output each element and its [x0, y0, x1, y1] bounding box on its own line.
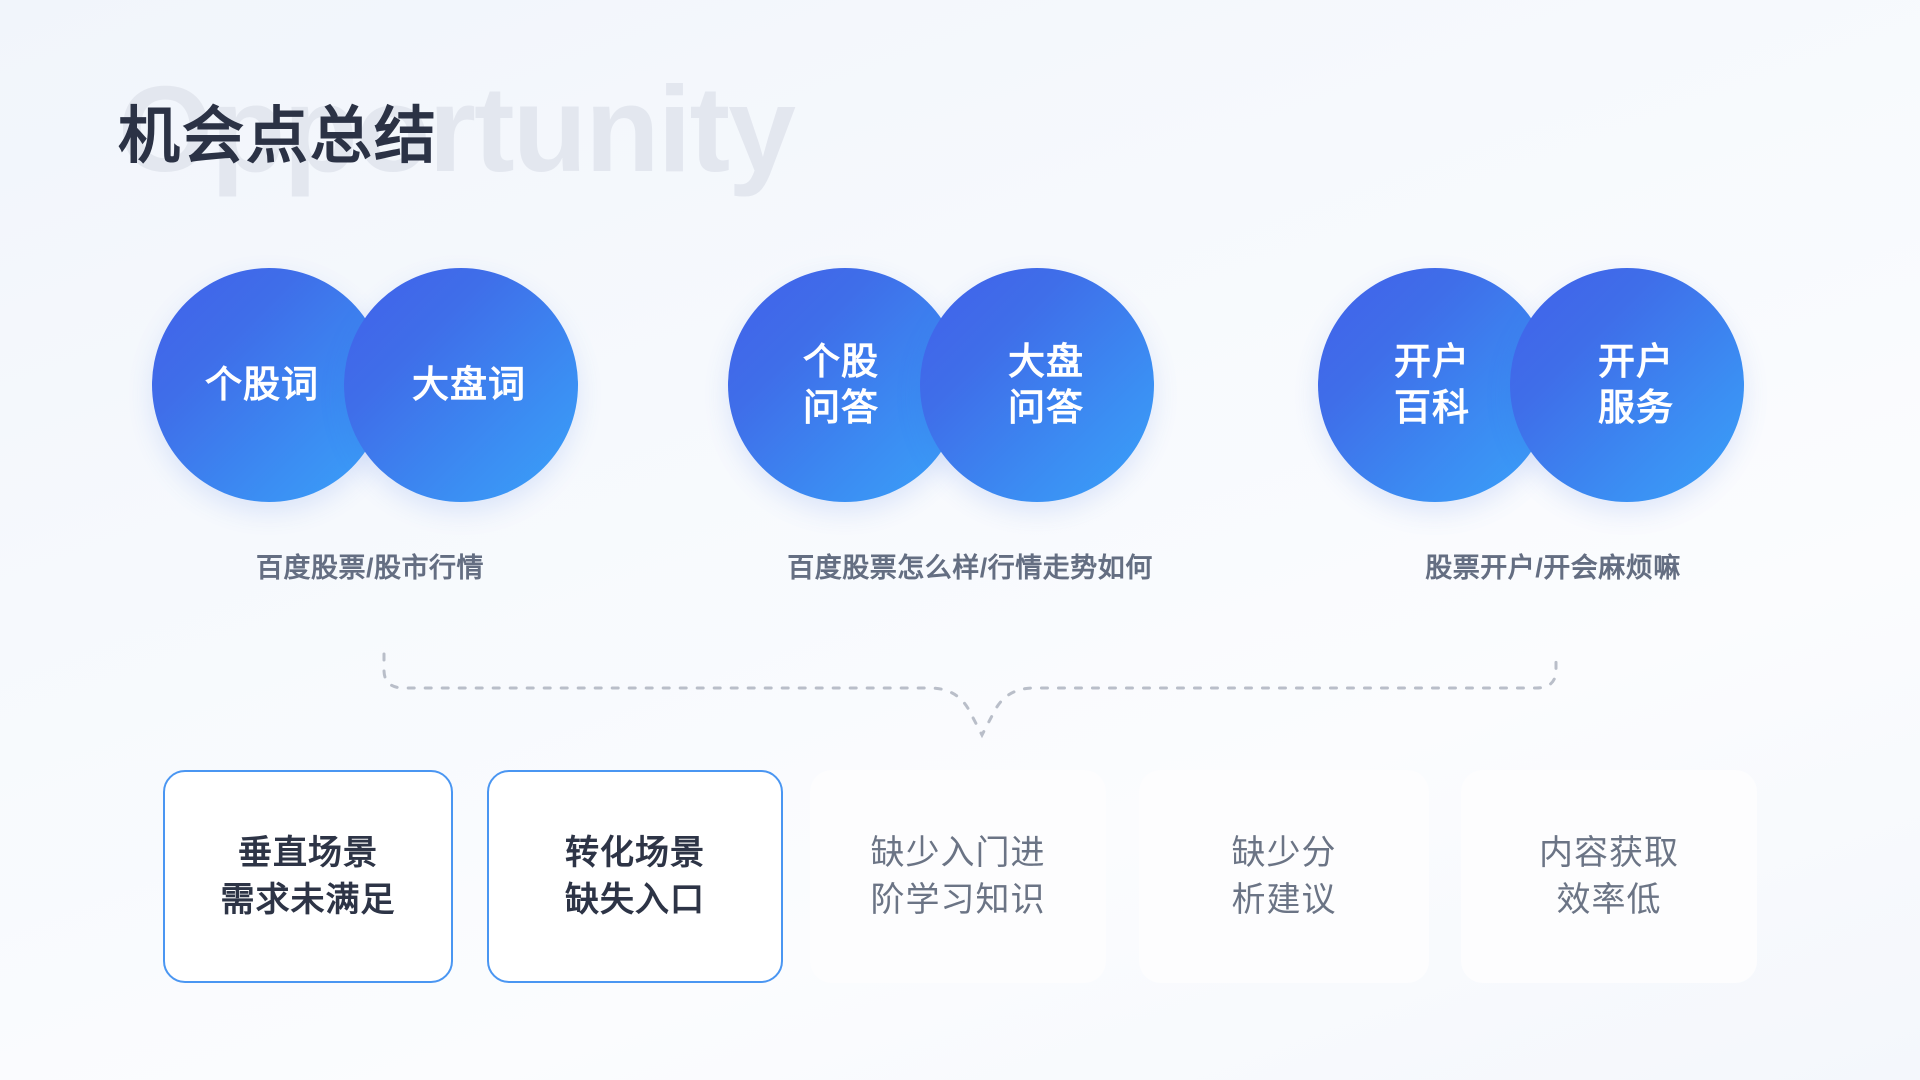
- issue-card-label: 缺少入门进 阶学习知识: [871, 830, 1046, 924]
- issue-card-2[interactable]: 转化场景 缺失入口: [487, 770, 783, 983]
- issue-card-label: 缺少分 析建议: [1232, 830, 1337, 924]
- circle-label: 个股词: [205, 362, 333, 408]
- issue-card-label: 转化场景 缺失入口: [565, 830, 705, 924]
- circle-group-3-caption: 股票开户/开会麻烦嘛: [1318, 546, 1788, 585]
- issue-card-3[interactable]: 缺少入门进 阶学习知识: [810, 770, 1106, 983]
- circle-groups: 个股词 大盘词 百度股票/股市行情 个股 问答 大盘 问答 百度股票怎么样/行情…: [0, 268, 1920, 608]
- issue-card-label: 内容获取 效率低: [1539, 830, 1679, 924]
- circle-group-2-caption: 百度股票怎么样/行情走势如何: [740, 546, 1200, 585]
- dashed-bracket-connector: [370, 640, 1570, 770]
- circle-group-2-item-2[interactable]: 大盘 问答: [920, 268, 1154, 502]
- circle-label: 开户 百科: [1388, 339, 1482, 432]
- circle-group-1-caption: 百度股票/股市行情: [130, 546, 610, 585]
- issue-card-label: 垂直场景 需求未满足: [221, 830, 396, 924]
- issue-card-1[interactable]: 垂直场景 需求未满足: [163, 770, 453, 983]
- circle-label: 大盘词: [396, 362, 526, 408]
- page-title: 机会点总结: [118, 106, 438, 168]
- circle-group-1: 个股词 大盘词 百度股票/股市行情: [152, 268, 632, 608]
- circle-group-1-item-2[interactable]: 大盘词: [344, 268, 578, 502]
- circle-group-3-item-2[interactable]: 开户 服务: [1510, 268, 1744, 502]
- slide-root: Opportunity 机会点总结 个股词 大盘词 百度股票/股市行情 个股 问…: [0, 0, 1920, 1080]
- page-title-block: Opportunity 机会点总结: [118, 70, 1018, 220]
- issue-cards: 垂直场景 需求未满足 转化场景 缺失入口 缺少入门进 阶学习知识 缺少分 析建议…: [0, 770, 1920, 990]
- bracket-icon: [370, 640, 1570, 770]
- circle-group-2: 个股 问答 大盘 问答 百度股票怎么样/行情走势如何: [728, 268, 1188, 608]
- issue-card-5[interactable]: 内容获取 效率低: [1461, 770, 1757, 983]
- circle-group-3: 开户 百科 开户 服务 股票开户/开会麻烦嘛: [1318, 268, 1788, 608]
- issue-card-4[interactable]: 缺少分 析建议: [1139, 770, 1429, 983]
- circle-label: 开户 服务: [1580, 339, 1674, 432]
- circle-label: 个股 问答: [797, 339, 893, 432]
- circle-label: 大盘 问答: [990, 339, 1084, 432]
